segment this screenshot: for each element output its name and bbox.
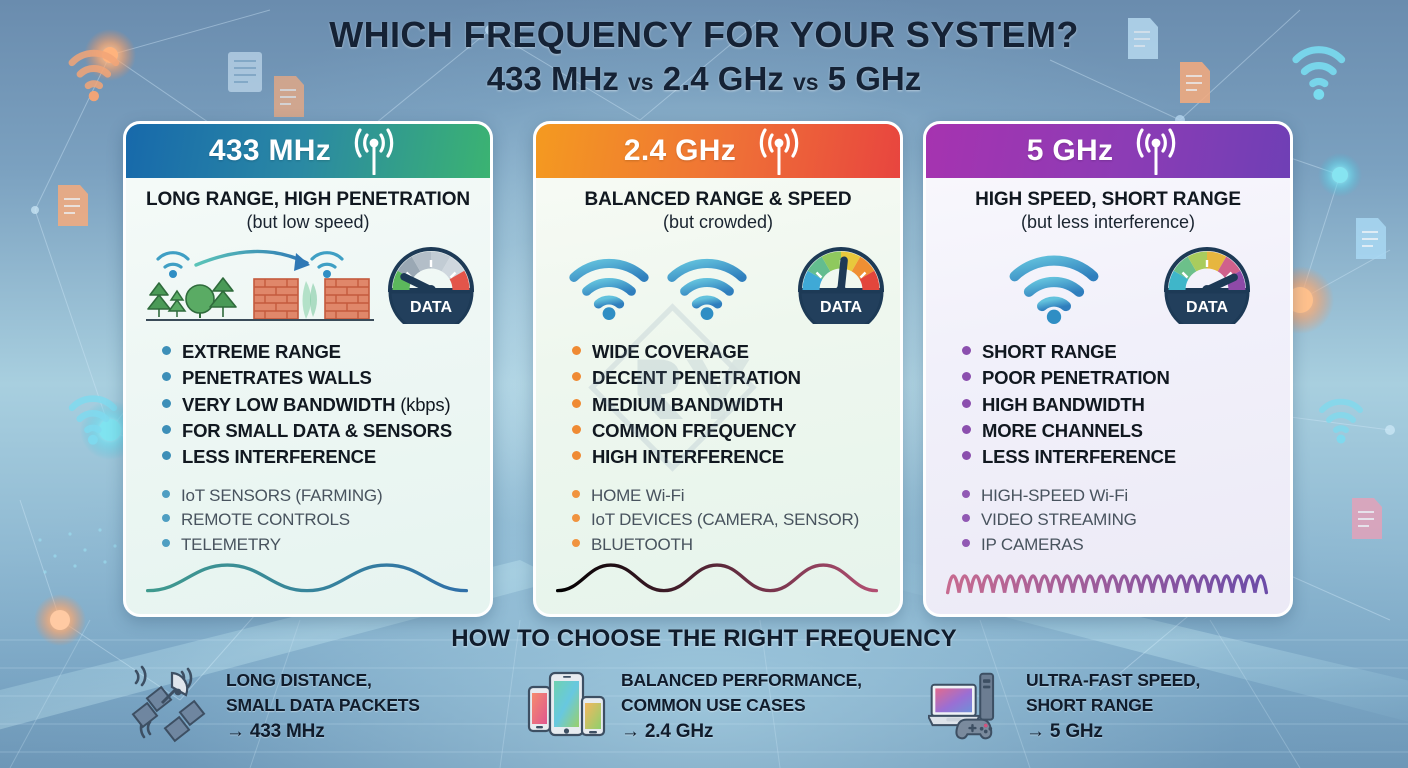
feature-item: WIDE COVERAGE [572, 339, 900, 364]
feature-label: HIGH INTERFERENCE [592, 446, 784, 467]
svg-text:DATA: DATA [410, 299, 453, 316]
card-scene [144, 243, 376, 331]
feature-item: SHORT RANGE [962, 339, 1290, 364]
card-title: 5 GHz [1027, 134, 1114, 168]
footer-recommendation-1: LONG DISTANCE, SMALL DATA PACKETS → 433 … [128, 663, 523, 746]
antenna-icon [347, 127, 401, 175]
bullet-dot [162, 451, 171, 460]
footer-text-block: BALANCED PERFORMANCE, COMMON USE CASES →… [621, 663, 862, 746]
feature-item: EXTREME RANGE [162, 339, 490, 364]
footer-text-block: ULTRA-FAST SPEED, SHORT RANGE → 5 GHz [1026, 663, 1200, 746]
card-icon-row: DATA [536, 241, 900, 333]
feature-item: MEDIUM BANDWIDTH [572, 392, 900, 417]
feature-item: HIGH INTERFERENCE [572, 444, 900, 469]
feature-item: VERY LOW BANDWIDTH (kbps) [162, 392, 490, 417]
footer-line-2: SHORT RANGE [1026, 693, 1200, 718]
title-line-2: 433 MHz vs 2.4 GHz vs 5 GHz [0, 58, 1408, 99]
signal-wave-graphic [536, 528, 900, 608]
footer-line-2: SMALL DATA PACKETS [226, 693, 420, 718]
card-subtitle-block: LONG RANGE, HIGH PENETRATION (but low sp… [126, 189, 490, 233]
footer-title: HOW TO CHOOSE THE RIGHT FREQUENCY [0, 625, 1408, 653]
wifi-icon [568, 254, 650, 320]
bullet-dot [962, 425, 971, 434]
bullet-dot [572, 451, 581, 460]
footer-section: HOW TO CHOOSE THE RIGHT FREQUENCY LONG D… [0, 625, 1408, 768]
feature-label: FOR SMALL DATA & SENSORS [182, 420, 452, 441]
card-subtitle: HIGH SPEED, SHORT RANGE [936, 189, 1280, 211]
title-freq-433: 433 MHz [487, 60, 619, 97]
card-subtitle-block: HIGH SPEED, SHORT RANGE (but less interf… [926, 189, 1290, 233]
trees-walls-signal-icon [144, 243, 376, 331]
feature-label: VERY LOW BANDWIDTH [182, 394, 395, 415]
frequency-cards: 433 MHz LONG RANGE, HIGH PENETRATION (bu… [0, 121, 1408, 617]
bullet-dot [962, 514, 970, 522]
laptop-gamepad-icon [928, 663, 1016, 745]
use-case-label: IoT SENSORS (FARMING) [181, 484, 382, 507]
use-case-item: HIGH-SPEED Wi-Fi [962, 484, 1290, 507]
bullet-dot [572, 514, 580, 522]
feature-label: LESS INTERFERENCE [182, 446, 376, 467]
bullet-dot [162, 399, 171, 408]
card-subtitle: LONG RANGE, HIGH PENETRATION [136, 189, 480, 211]
bullet-dot [962, 399, 971, 408]
bullet-dot [962, 346, 971, 355]
footer-line-1: LONG DISTANCE, [226, 668, 420, 693]
antenna-icon [1129, 127, 1183, 175]
feature-item: POOR PENETRATION [962, 365, 1290, 390]
card-feature-list: WIDE COVERAGE DECENT PENETRATION MEDIUM … [536, 333, 900, 556]
svg-text:DATA: DATA [1186, 299, 1229, 316]
wifi-icon [666, 254, 748, 320]
infographic-title: WHICH FREQUENCY FOR YOUR SYSTEM? 433 MHz… [0, 14, 1408, 100]
bullet-dot [962, 451, 971, 460]
feature-label: POOR PENETRATION [982, 367, 1170, 388]
antenna-icon [752, 127, 806, 175]
card-scene [944, 250, 1100, 324]
data-gauge-icon: DATA [796, 246, 886, 324]
bullet-dot [162, 372, 171, 381]
use-case-item: IoT SENSORS (FARMING) [162, 484, 490, 507]
title-freq-5: 5 GHz [828, 60, 922, 97]
footer-result: → 433 MHz [226, 719, 420, 746]
bullet-dot [572, 425, 581, 434]
feature-item: LESS INTERFERENCE [962, 444, 1290, 469]
footer-items: LONG DISTANCE, SMALL DATA PACKETS → 433 … [0, 663, 1408, 746]
feature-label: PENETRATES WALLS [182, 367, 372, 388]
card-gauge: DATA [796, 246, 886, 329]
footer-line-2: COMMON USE CASES [621, 693, 862, 718]
bullet-dot [572, 399, 581, 408]
feature-item: FOR SMALL DATA & SENSORS [162, 418, 490, 443]
frequency-card-433mhz[interactable]: 433 MHz LONG RANGE, HIGH PENETRATION (bu… [123, 121, 493, 617]
footer-result: → 5 GHz [1026, 719, 1200, 746]
feature-item: COMMON FREQUENCY [572, 418, 900, 443]
card-feature-list: EXTREME RANGE PENETRATES WALLS VERY LOW … [126, 333, 490, 556]
feature-label: MORE CHANNELS [982, 420, 1143, 441]
satellite-icon [128, 663, 216, 745]
bullet-dot [962, 490, 970, 498]
card-icon-row: DATA [926, 241, 1290, 333]
footer-text-block: LONG DISTANCE, SMALL DATA PACKETS → 433 … [226, 663, 420, 746]
feature-label: MEDIUM BANDWIDTH [592, 394, 783, 415]
card-subtitle-block: BALANCED RANGE & SPEED (but crowded) [536, 189, 900, 233]
card-title: 2.4 GHz [624, 134, 736, 168]
card-title: 433 MHz [209, 134, 331, 168]
feature-item: HIGH BANDWIDTH [962, 392, 1290, 417]
svg-text:DATA: DATA [820, 299, 863, 316]
feature-label: WIDE COVERAGE [592, 341, 749, 362]
card-feature-list: SHORT RANGE POOR PENETRATION HIGH BANDWI… [926, 333, 1290, 556]
use-case-label: HIGH-SPEED Wi-Fi [981, 484, 1128, 507]
bullet-dot [162, 346, 171, 355]
title-freq-24: 2.4 GHz [663, 60, 784, 97]
bullet-dot [162, 425, 171, 434]
signal-wave-graphic [126, 528, 490, 608]
card-subnote: (but less interference) [936, 212, 1280, 233]
mobile-devices-icon [523, 663, 611, 745]
use-case-label: HOME Wi-Fi [591, 484, 684, 507]
feature-label: SHORT RANGE [982, 341, 1117, 362]
footer-recommendation-3: ULTRA-FAST SPEED, SHORT RANGE → 5 GHz [928, 663, 1328, 746]
feature-label: DECENT PENETRATION [592, 367, 801, 388]
card-header-5ghz: 5 GHz [926, 124, 1290, 178]
feature-item: PENETRATES WALLS [162, 365, 490, 390]
feature-label: HIGH BANDWIDTH [982, 394, 1145, 415]
bullet-dot [572, 372, 581, 381]
bullet-dot [962, 372, 971, 381]
feature-item: MORE CHANNELS [962, 418, 1290, 443]
feature-item: DECENT PENETRATION [572, 365, 900, 390]
signal-wave-graphic [926, 528, 1290, 608]
card-subnote: (but crowded) [546, 212, 890, 233]
title-vs-1: vs [628, 69, 654, 95]
card-scene [554, 254, 748, 320]
data-gauge-icon: DATA [1162, 246, 1252, 324]
feature-item: LESS INTERFERENCE [162, 444, 490, 469]
footer-line-1: BALANCED PERFORMANCE, [621, 668, 862, 693]
title-line-1: WHICH FREQUENCY FOR YOUR SYSTEM? [0, 14, 1408, 56]
card-header-24ghz: 2.4 GHz [536, 124, 900, 178]
card-icon-row: DATA [126, 241, 490, 333]
title-vs-2: vs [793, 69, 819, 95]
card-subnote: (but low speed) [136, 212, 480, 233]
feature-label: EXTREME RANGE [182, 341, 341, 362]
data-gauge-icon: DATA [386, 246, 476, 324]
feature-label: COMMON FREQUENCY [592, 420, 796, 441]
card-gauge: DATA [386, 246, 476, 329]
footer-recommendation-2: BALANCED PERFORMANCE, COMMON USE CASES →… [523, 663, 918, 746]
footer-result: → 2.4 GHz [621, 719, 862, 746]
footer-line-1: ULTRA-FAST SPEED, [1026, 668, 1200, 693]
feature-label: LESS INTERFERENCE [982, 446, 1176, 467]
card-gauge: DATA [1162, 246, 1276, 329]
feature-suffix: (kbps) [395, 394, 450, 415]
bullet-dot [572, 346, 581, 355]
frequency-card-24ghz[interactable]: 2.4 GHz BALANCED RANGE & SPEED (but crow… [533, 121, 903, 617]
bullet-dot [572, 490, 580, 498]
wifi-icon [1008, 250, 1100, 324]
bullet-dot [162, 514, 170, 522]
card-header-433mhz: 433 MHz [126, 124, 490, 178]
use-case-item: HOME Wi-Fi [572, 484, 900, 507]
card-subtitle: BALANCED RANGE & SPEED [546, 189, 890, 211]
frequency-card-5ghz[interactable]: 5 GHz HIGH SPEED, SHORT RANGE (but less … [923, 121, 1293, 617]
bullet-dot [162, 490, 170, 498]
